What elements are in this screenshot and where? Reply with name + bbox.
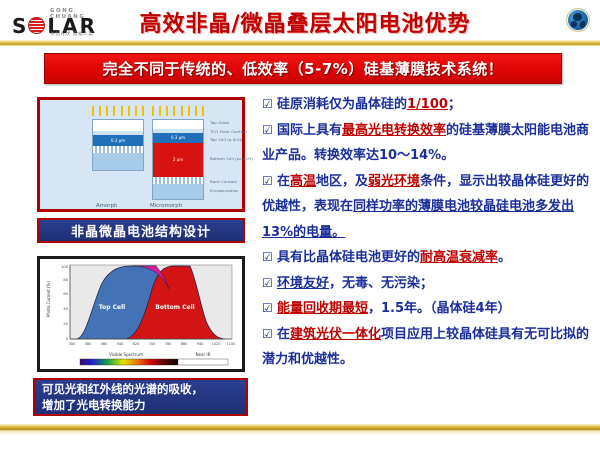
layer-encapsulation-amorph: [92, 153, 144, 171]
advantage-text-run: 最高光电转换效率: [342, 123, 446, 138]
svg-text:300: 300: [69, 342, 76, 346]
svg-text:700: 700: [149, 342, 156, 346]
svg-text:620: 620: [133, 342, 140, 346]
advantage-text-run: 耐高温衰减率: [420, 250, 498, 265]
diagram-canvas: 0.3 µm 0.3 µm 2 µm Top Glass TCO Front C…: [40, 100, 242, 209]
advantage-item: ☑在高温地区，及弱光环境条件，显示出较晶体硅更好的优越性，表现在同样功率的薄膜电…: [262, 169, 592, 246]
chart-caption: 可见光和红外线的光谱的吸收， 增加了光电转换能力: [33, 378, 248, 416]
advantage-text-run: 能量回收期最短: [277, 301, 368, 316]
advantage-text-run: 在: [277, 327, 290, 342]
slide-header: SOLAR GONG CHUANG 共创光伏 造福人类 高效非晶/微晶叠层太阳电…: [0, 0, 600, 44]
footer-shadow: [0, 431, 600, 435]
checkbox-icon: ☑: [262, 296, 277, 322]
company-logo: SOLAR GONG CHUANG 共创光伏 造福人类: [12, 8, 108, 38]
label-encapsulation: Encapsulation: [210, 188, 239, 193]
svg-text:380: 380: [85, 342, 92, 346]
logo-sun-icon: [28, 17, 45, 34]
label-amorph: Amorph: [96, 203, 117, 209]
layer-top-cell-micromorph: 0.3 µm: [152, 133, 204, 143]
advantage-text-run: 建筑光伏一体化: [290, 327, 381, 342]
advantage-text-run: ；: [448, 97, 461, 112]
advantage-text-run: ，1.5年。（晶体硅4年）: [368, 301, 511, 316]
label-tco: TCO Front Contact: [210, 129, 247, 134]
advantage-text-run: ，无毒、无污染；: [329, 276, 433, 291]
slide: SOLAR GONG CHUANG 共创光伏 造福人类 高效非晶/微晶叠层太阳电…: [0, 0, 600, 450]
label-back-contact: Back Contact: [210, 179, 237, 184]
checkbox-icon: ☑: [262, 169, 277, 195]
svg-text:780: 780: [165, 342, 172, 346]
advantages-list: ☑硅原消耗仅为晶体硅的1/100；☑国际上具有最高光电转换效率的硅基薄膜太阳能电…: [262, 92, 592, 422]
checkbox-icon: ☑: [262, 322, 277, 348]
advantage-item: ☑具有比晶体硅电池更好的耐高温衰减率。: [262, 245, 592, 271]
layer-encapsulation-micromorph: [152, 184, 204, 200]
annotation-near-ir: Near IR: [196, 352, 211, 357]
logo-pinyin: GONG CHUANG: [50, 8, 108, 20]
label-top-cell: Top Cell (a-Si:H): [210, 137, 243, 142]
series-label-top-cell: Top Cell: [99, 304, 125, 311]
spectral-response-chart: 0 20 40 60 80 100 Photo Current (%) 300 …: [37, 256, 245, 372]
layer-back-contact-micromorph: [152, 177, 204, 184]
micromorph-stack: 0.3 µm 2 µm: [152, 106, 204, 206]
chart-svg: 0 20 40 60 80 100 Photo Current (%) 300 …: [40, 259, 242, 369]
advantage-text-run: 具有比晶体硅电池更好的: [277, 250, 420, 265]
layer-bottom-cell-micromorph: 2 µm: [152, 143, 204, 177]
layer-top-cell-amorph: 0.3 µm: [92, 135, 144, 146]
chart-caption-line2: 增加了光电转换能力: [42, 397, 203, 413]
checkbox-icon: ☑: [262, 118, 277, 144]
globe-icon: [566, 8, 590, 32]
svg-text:460: 460: [101, 342, 108, 346]
svg-text:940: 940: [197, 342, 204, 346]
layer-top-glass-micromorph: [152, 119, 204, 129]
svg-text:860: 860: [181, 342, 188, 346]
advantage-text-run: 国际上具有: [277, 123, 342, 138]
chart-caption-line1: 可见光和红外线的光谱的吸收，: [42, 381, 203, 397]
advantage-text-run: 弱光环境: [368, 174, 420, 189]
chart-ylabel: Photo Current (%): [46, 281, 51, 317]
header-divider: [0, 40, 600, 46]
advantage-item: ☑能量回收期最短，1.5年。（晶体硅4年）: [262, 296, 592, 322]
checkbox-icon: ☑: [262, 245, 277, 271]
amorph-stack: 0.3 µm: [92, 106, 144, 206]
advantage-item: ☑环境友好，无毒、无污染；: [262, 271, 592, 297]
svg-text:80: 80: [63, 278, 68, 282]
svg-text:540: 540: [117, 342, 124, 346]
diagram-caption-text: 非晶微晶电池结构设计: [71, 221, 211, 240]
logo-slogan: 共创光伏 造福人类: [50, 31, 94, 37]
svg-text:20: 20: [63, 322, 68, 326]
cell-structure-diagram: 0.3 µm 0.3 µm 2 µm Top Glass TCO Front C…: [37, 97, 245, 212]
advantage-item: ☑硅原消耗仅为晶体硅的1/100；: [262, 92, 592, 118]
annotation-visible-spectrum: Visible Spectrum: [109, 352, 143, 357]
headline-banner-text: 完全不同于传统的、低效率（5-7%）硅基薄膜技术系统！: [103, 58, 504, 79]
chart-canvas: 0 20 40 60 80 100 Photo Current (%) 300 …: [40, 259, 242, 369]
page-title: 高效非晶/微晶叠层太阳电池优势: [110, 4, 500, 40]
advantage-item: ☑在建筑光伏一体化项目应用上较晶体硅具有无可比拟的潜力和优越性。: [262, 322, 592, 373]
spectrum-color-bar: [80, 359, 178, 365]
headline-banner: 完全不同于传统的、低效率（5-7%）硅基薄膜技术系统！: [44, 53, 562, 84]
advantage-text-run: 在: [277, 174, 290, 189]
advantage-text-run: 1/100: [407, 97, 448, 112]
svg-text:100: 100: [61, 265, 69, 269]
label-bottom-cell: Bottom Cell (µc-Si:H): [210, 156, 253, 161]
svg-text:1100: 1100: [227, 342, 236, 346]
advantage-text-run: 环境友好: [277, 276, 329, 291]
svg-text:40: 40: [63, 307, 68, 311]
diagram-caption: 非晶微晶电池结构设计: [37, 218, 245, 243]
advantage-item: ☑国际上具有最高光电转换效率的硅基薄膜太阳能电池商业产品。转换效率达10～14%…: [262, 118, 592, 169]
series-label-bottom-cell: Bottom Cell: [155, 304, 194, 311]
label-top-glass: Top Glass: [210, 120, 229, 125]
advantage-text-run: 。: [498, 250, 511, 265]
advantage-text-run: 硅原消耗仅为晶体硅的: [277, 97, 407, 112]
checkbox-icon: ☑: [262, 92, 277, 118]
layer-top-glass-amorph: [92, 119, 144, 131]
checkbox-icon: ☑: [262, 271, 277, 297]
advantage-text-run: 地区，及: [316, 174, 368, 189]
footer-divider: [0, 424, 600, 431]
near-ir-bar: [178, 359, 228, 365]
svg-text:1020: 1020: [212, 342, 221, 346]
advantage-text-run: 高温: [290, 174, 316, 189]
sunlight-rays-amorph: [92, 106, 144, 116]
svg-text:60: 60: [63, 292, 68, 296]
sunlight-rays-micromorph: [152, 106, 204, 116]
layer-back-contact-amorph: [92, 146, 144, 153]
label-micromorph: Micromorph: [150, 203, 182, 209]
